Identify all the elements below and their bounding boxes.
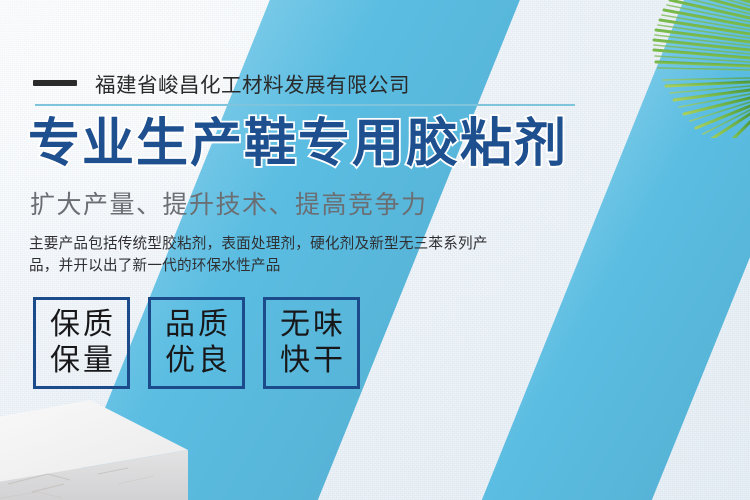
- badge-line-2: 快干: [277, 343, 346, 379]
- headline: 专业生产鞋专用胶粘剂: [28, 118, 568, 170]
- subheadline: 扩大产量、提升技术、提高竞争力: [30, 192, 428, 220]
- promo-banner: 福建省峻昌化工材料发展有限公司 专业生产鞋专用胶粘剂 扩大产量、提升技术、提高竞…: [0, 0, 750, 500]
- banner-content: 福建省峻昌化工材料发展有限公司 专业生产鞋专用胶粘剂 扩大产量、提升技术、提高竞…: [0, 0, 750, 500]
- company-name: 福建省峻昌化工材料发展有限公司: [95, 68, 410, 98]
- body-paragraph: 主要产品包括传统型胶粘剂，表面处理剂，硬化剂及新型无三苯系列产品，并开以出了新一…: [29, 233, 499, 277]
- feature-badge: 品质 优良: [148, 297, 245, 389]
- eyebrow-row: 福建省峻昌化工材料发展有限公司: [33, 68, 410, 98]
- feature-badge: 无味 快干: [263, 297, 360, 389]
- feature-badge-group: 保质 保量 品质 优良 无味 快干: [33, 297, 360, 389]
- badge-line-2: 保量: [47, 343, 116, 379]
- badge-line-1: 保质: [47, 307, 116, 343]
- feature-badge: 保质 保量: [33, 297, 130, 389]
- badge-line-2: 优良: [162, 343, 231, 379]
- divider-rule: [35, 104, 575, 106]
- horizontal-dash-icon: [33, 80, 77, 86]
- badge-line-1: 品质: [162, 307, 231, 343]
- badge-line-1: 无味: [277, 307, 346, 343]
